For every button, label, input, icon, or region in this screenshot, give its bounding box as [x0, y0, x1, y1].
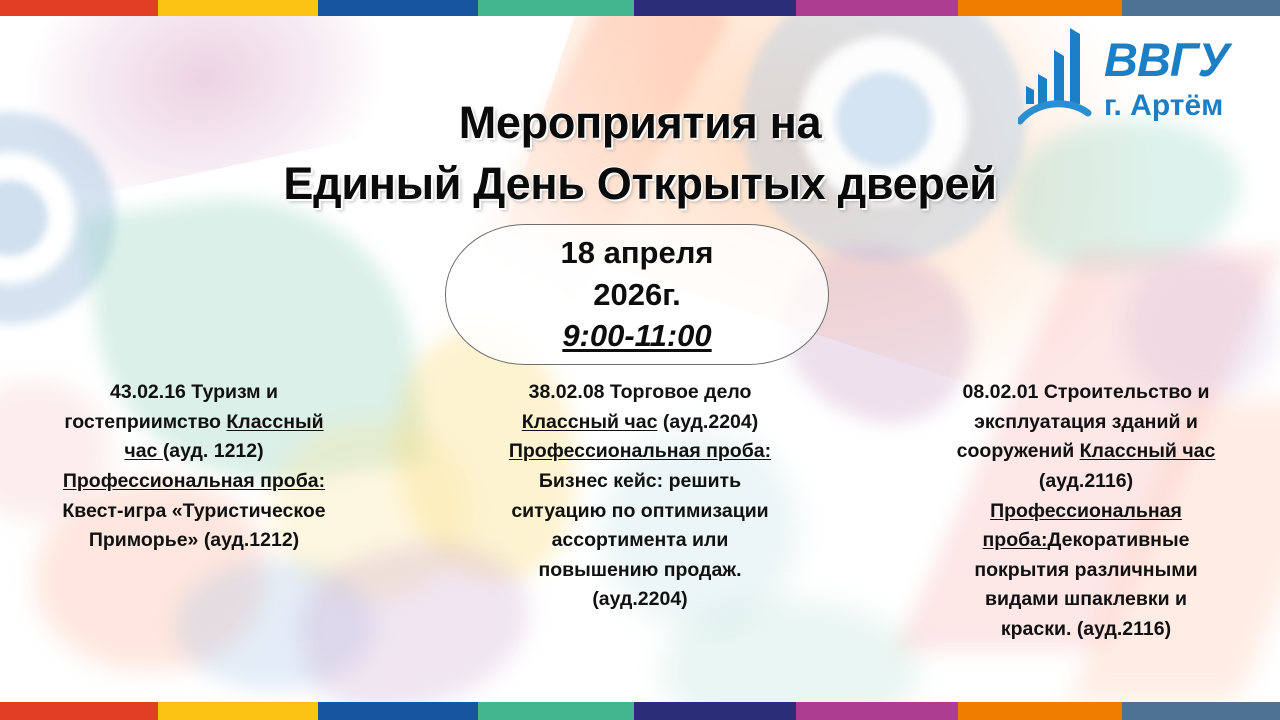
vvgu-logo: ВВГУ г. Артём: [1018, 18, 1258, 128]
program-event1-label: Классный час: [1080, 440, 1216, 462]
program-column-construction: 08.02.01 Строительство и эксплуатация зд…: [948, 378, 1224, 645]
program-event1-room: (ауд. 1212): [163, 440, 264, 462]
color-bar-segment-orange: [958, 702, 1122, 720]
program-event2-label: Профессиональная проба:: [63, 470, 325, 492]
color-bar-segment-steel-blue: [1122, 702, 1280, 720]
color-bar-top: [0, 0, 1280, 16]
color-bar-segment-yellow: [158, 702, 318, 720]
color-bar-segment-magenta: [796, 702, 958, 720]
program-event2-label: Профессиональная проба:: [509, 440, 771, 462]
program-code-title: 38.02.08 Торговое дело: [529, 381, 752, 403]
color-bar-segment-magenta: [796, 0, 958, 16]
color-bar-segment-steel-blue: [1122, 0, 1280, 16]
color-bar-segment-navy: [634, 702, 796, 720]
program-event2-text: Квест-игра «Туристическое Приморье» (ауд…: [62, 500, 325, 552]
program-columns: 43.02.16 Туризм и гостеприимство Классны…: [0, 378, 1280, 645]
date-day: 18 апреля: [560, 232, 713, 274]
page-title-line-2: Единый День Открытых дверей: [0, 153, 1280, 214]
program-event1-room: (ауд.2116): [1039, 470, 1133, 492]
poster-canvas: ВВГУ г. Артём Мероприятия на Единый День…: [0, 0, 1280, 720]
date-time: 9:00-11:00: [562, 316, 711, 357]
program-event2-text: Бизнес кейс: решить ситуацию по оптимиза…: [511, 470, 768, 611]
program-column-tourism: 43.02.16 Туризм и гостеприимство Классны…: [56, 378, 332, 556]
date-badge: 18 апреля 2026г. 9:00-11:00: [445, 224, 829, 365]
logo-swoosh-icon: [1020, 104, 1088, 121]
color-bar-segment-blue: [318, 702, 478, 720]
vvgu-logo-svg: ВВГУ г. Артём: [1018, 18, 1258, 128]
color-bar-segment-yellow: [158, 0, 318, 16]
color-bar-segment-green: [478, 0, 634, 16]
program-event1-label: Классный час: [522, 411, 658, 433]
color-bar-segment-red: [0, 702, 158, 720]
building-towers-icon: [1026, 28, 1080, 104]
logo-brand-text: ВВГУ: [1104, 33, 1233, 86]
color-bar-segment-red: [0, 0, 158, 16]
logo-city-text: г. Артём: [1104, 89, 1223, 122]
date-year: 2026г.: [593, 274, 680, 316]
color-bar-segment-green: [478, 702, 634, 720]
color-bar-segment-navy: [634, 0, 796, 16]
program-column-trade: 38.02.08 Торговое дело Классный час (ауд…: [504, 378, 776, 615]
color-bar-segment-blue: [318, 0, 478, 16]
color-bar-segment-orange: [958, 0, 1122, 16]
color-bar-bottom: [0, 702, 1280, 720]
program-event1-room: (ауд.2204): [663, 411, 758, 433]
